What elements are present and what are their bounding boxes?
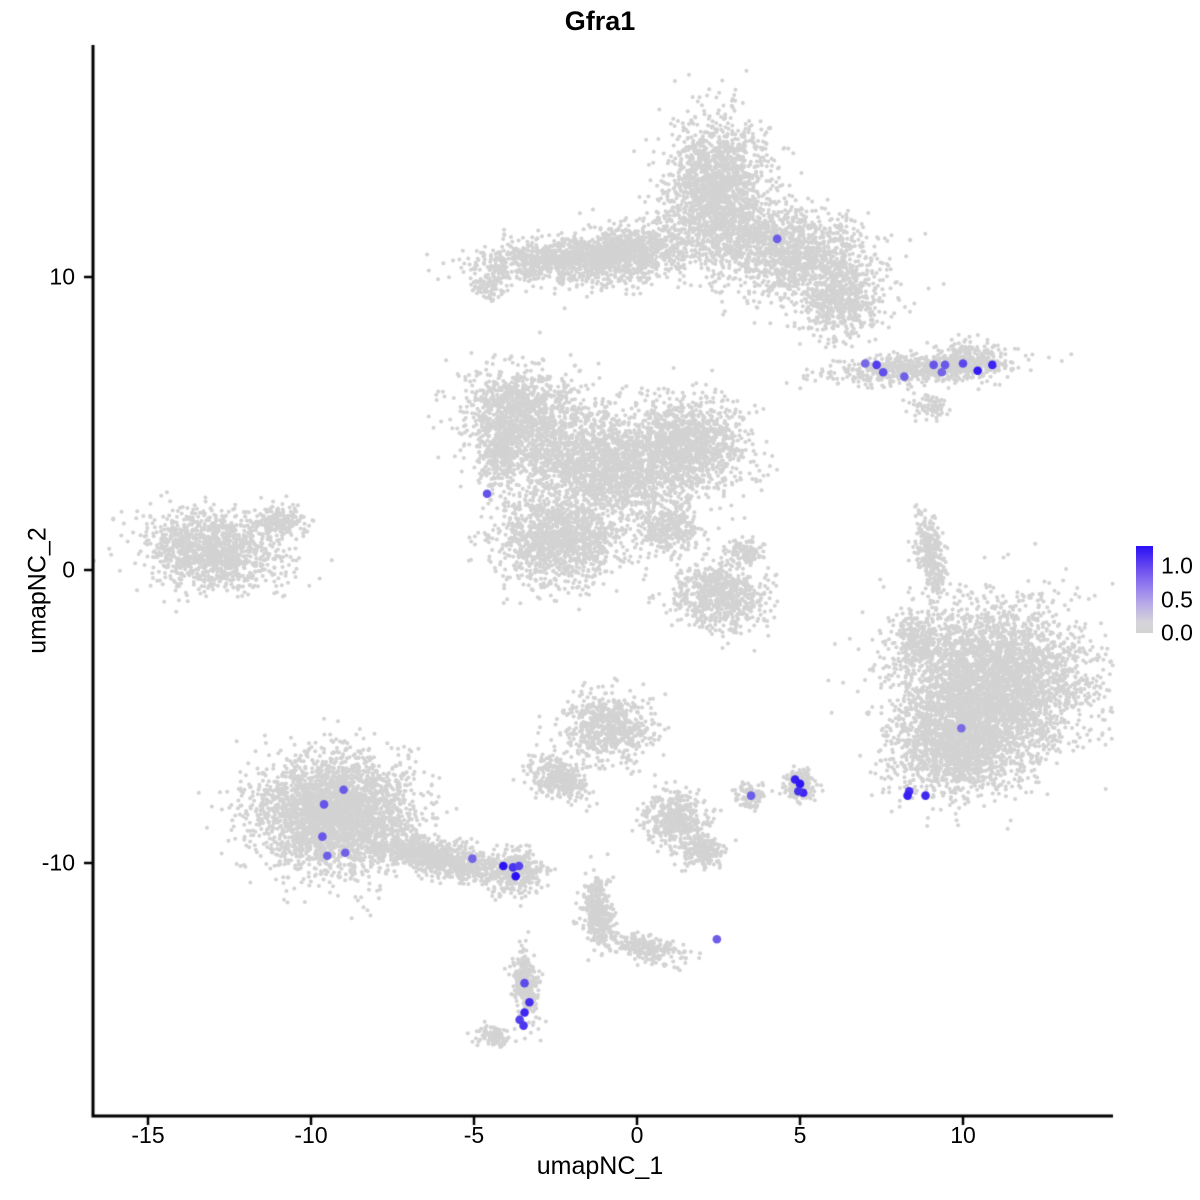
color-legend-gradient-bar (1136, 546, 1153, 633)
legend-tick-label: 1.0 (1161, 553, 1193, 580)
scatter-plot-canvas (0, 0, 1200, 1200)
y-axis-label: umapNC_2 (24, 291, 53, 891)
legend-tick-label: 0.0 (1161, 620, 1193, 647)
x-tick-label: -15 (131, 1122, 164, 1149)
y-tick-label: 0 (15, 557, 75, 584)
umap-feature-plot: Gfra1 umapNC_1 umapNC_2 -15-10-50510 -10… (0, 0, 1200, 1200)
page-title: Gfra1 (0, 6, 1200, 37)
y-tick-label: 10 (15, 264, 75, 291)
y-tick-label: -10 (15, 850, 75, 877)
x-tick-label: 0 (631, 1122, 644, 1149)
x-tick-label: 5 (794, 1122, 807, 1149)
x-axis-label: umapNC_1 (0, 1152, 1200, 1181)
x-tick-label: -10 (294, 1122, 327, 1149)
x-tick-label: -5 (464, 1122, 484, 1149)
x-tick-label: 10 (950, 1122, 976, 1149)
legend-tick-label: 0.5 (1161, 586, 1193, 613)
